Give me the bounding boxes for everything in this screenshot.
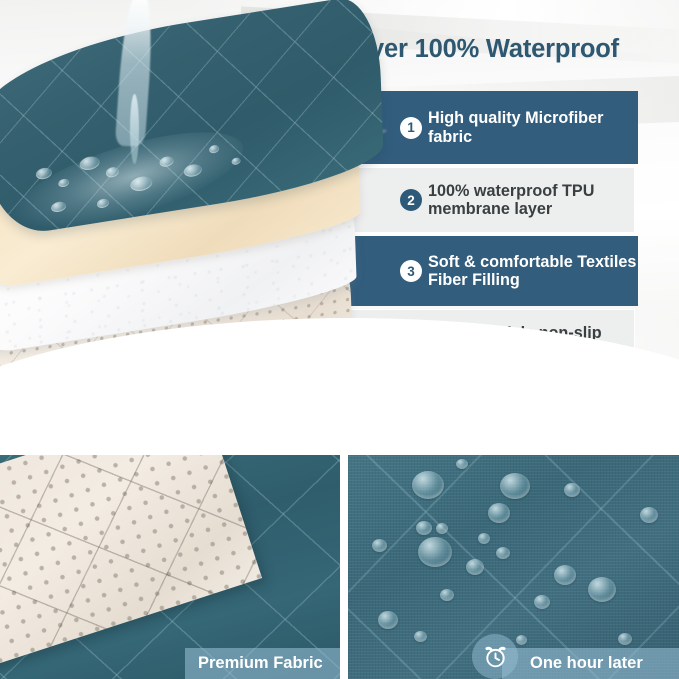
water-droplet (564, 483, 580, 497)
water-droplet (516, 635, 527, 645)
water-droplet (418, 537, 452, 567)
feature-number-badge-3: 3 (400, 260, 422, 282)
water-droplet (378, 611, 398, 629)
feature-text-2: 100% waterproof TPU membrane layer (428, 182, 634, 218)
feature-text-1: High quality Microfiber fabric (428, 109, 638, 145)
water-droplet (496, 547, 510, 559)
water-pour-stream-thin (130, 94, 139, 164)
water-droplet (640, 507, 658, 523)
water-droplet (588, 577, 616, 602)
water-droplet (436, 523, 448, 534)
water-droplet (440, 589, 454, 601)
water-droplet (414, 631, 427, 642)
water-droplet (500, 473, 530, 499)
premium-fabric-folded-corner-photo (0, 455, 340, 679)
premium-fabric-badge: Premium Fabric (185, 648, 340, 679)
water-droplet (466, 559, 484, 575)
product-infographic: 1 High quality Microfiber fabric 2 100% … (0, 0, 679, 679)
one-hour-later-label: One hour later (530, 654, 643, 673)
water-droplet (618, 633, 632, 645)
feature-number-badge-2: 2 (400, 189, 422, 211)
water-droplet (456, 459, 468, 469)
water-droplet (412, 471, 444, 499)
premium-fabric-label: Premium Fabric (198, 654, 323, 673)
water-droplet (478, 533, 490, 544)
one-hour-later-badge: One hour later (502, 648, 679, 679)
water-droplet (488, 503, 510, 523)
water-droplet (534, 595, 550, 609)
bottom-photos-divider (340, 455, 348, 679)
feature-number-badge-1: 1 (400, 117, 422, 139)
alarm-clock-icon (472, 634, 518, 679)
water-droplet (554, 565, 576, 585)
water-droplet (372, 539, 387, 552)
feature-text-3: Soft & comfortable Textiles Fiber Fillin… (428, 253, 638, 289)
water-droplet (416, 521, 432, 535)
